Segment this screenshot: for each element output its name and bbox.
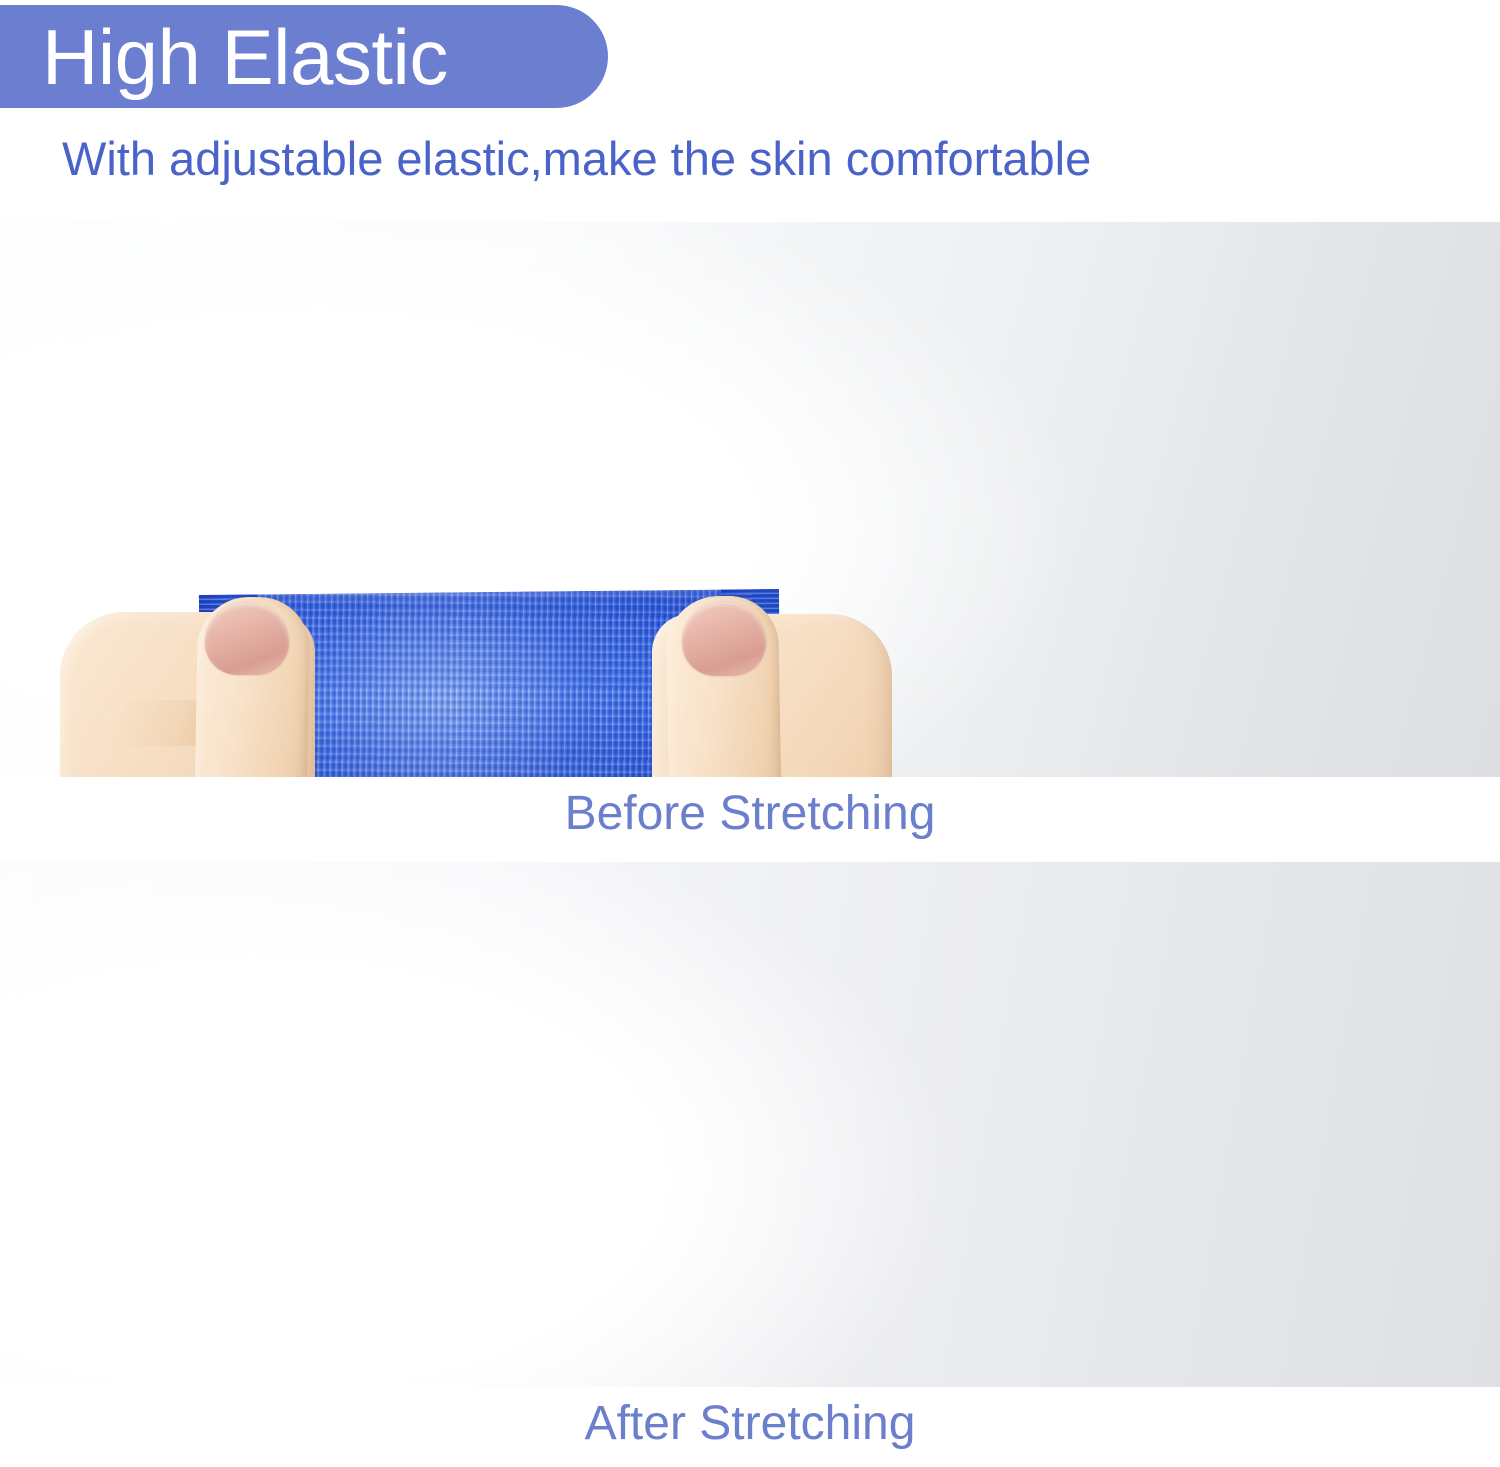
photo-before-stretching: [0, 222, 1500, 777]
header-subtitle: With adjustable elastic,make the skin co…: [62, 131, 1091, 187]
left-fingernail: [205, 603, 289, 675]
caption-before-stretching: Before Stretching: [0, 786, 1500, 842]
photo-after-stretching: [0, 862, 1500, 1387]
page-title: High Elastic: [42, 18, 448, 96]
right-fingernail: [682, 602, 766, 676]
caption-after-stretching: After Stretching: [0, 1396, 1500, 1452]
header-badge: High Elastic: [0, 5, 608, 108]
photo-background: [0, 862, 1500, 1387]
